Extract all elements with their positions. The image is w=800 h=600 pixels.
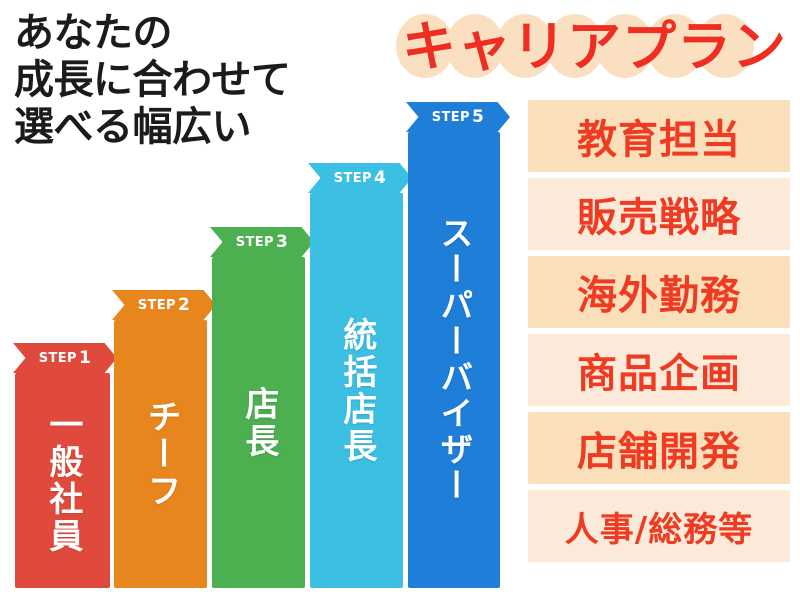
- role-item-label: 教育担当: [577, 107, 741, 165]
- step-column-5[interactable]: STEP5スーパーバイザー: [408, 100, 500, 588]
- step-bar-3: 店長: [212, 257, 305, 588]
- role-item-label: 販売戦略: [577, 185, 741, 243]
- step-badge-2: STEP2: [112, 290, 216, 320]
- role-item-label: 店舗開発: [577, 419, 741, 477]
- step-bar-label: 統括店長: [339, 317, 374, 465]
- step-bar-chart: STEP1一般社員STEP2チーフSTEP3店長STEP4統括店長STEP5スー…: [0, 0, 520, 600]
- role-item[interactable]: 教育担当: [528, 100, 790, 172]
- step-badge-5: STEP5: [406, 102, 510, 132]
- step-badge-number: 4: [374, 168, 386, 188]
- step-badge-number: 2: [178, 295, 190, 315]
- step-bar-label: 一般社員: [45, 407, 80, 555]
- step-bar-label: チーフ: [143, 399, 178, 510]
- step-column-4[interactable]: STEP4統括店長: [310, 161, 403, 588]
- step-badge-prefix: STEP: [432, 110, 470, 125]
- role-item-label: 人事/総務等: [565, 502, 753, 551]
- step-column-3[interactable]: STEP3店長: [212, 225, 305, 588]
- step-badge-number: 1: [79, 348, 91, 368]
- role-item-label: 商品企画: [577, 341, 741, 399]
- step-badge-number: 3: [276, 232, 288, 252]
- step-bar-5: スーパーバイザー: [408, 132, 500, 588]
- role-item[interactable]: 人事/総務等: [528, 490, 790, 562]
- step-column-2[interactable]: STEP2チーフ: [114, 288, 207, 588]
- infographic-canvas: あなたの 成長に合わせて 選べる幅広い キャリアプラン STEP1一般社員STE…: [0, 0, 800, 600]
- step-badge-number: 5: [472, 107, 484, 127]
- step-bar-label: 店長: [241, 386, 276, 460]
- step-column-1[interactable]: STEP1一般社員: [15, 341, 110, 588]
- step-bar-2: チーフ: [114, 320, 207, 588]
- step-bar-1: 一般社員: [15, 373, 110, 588]
- role-list: 教育担当販売戦略海外勤務商品企画店舗開発人事/総務等: [528, 100, 790, 568]
- role-item[interactable]: 店舗開発: [528, 412, 790, 484]
- step-bar-label: スーパーバイザー: [437, 216, 471, 504]
- step-badge-1: STEP1: [13, 343, 117, 373]
- role-item[interactable]: 販売戦略: [528, 178, 790, 250]
- step-badge-prefix: STEP: [138, 298, 176, 313]
- title-text: キャリアプラン: [396, 20, 787, 74]
- role-item[interactable]: 商品企画: [528, 334, 790, 406]
- role-item-label: 海外勤務: [577, 263, 741, 321]
- step-bar-4: 統括店長: [310, 193, 403, 588]
- step-badge-prefix: STEP: [39, 351, 77, 366]
- role-item[interactable]: 海外勤務: [528, 256, 790, 328]
- step-badge-3: STEP3: [210, 227, 314, 257]
- step-badge-prefix: STEP: [334, 171, 372, 186]
- title-badge: キャリアプラン: [396, 8, 787, 86]
- step-badge-4: STEP4: [308, 163, 412, 193]
- step-badge-prefix: STEP: [236, 235, 274, 250]
